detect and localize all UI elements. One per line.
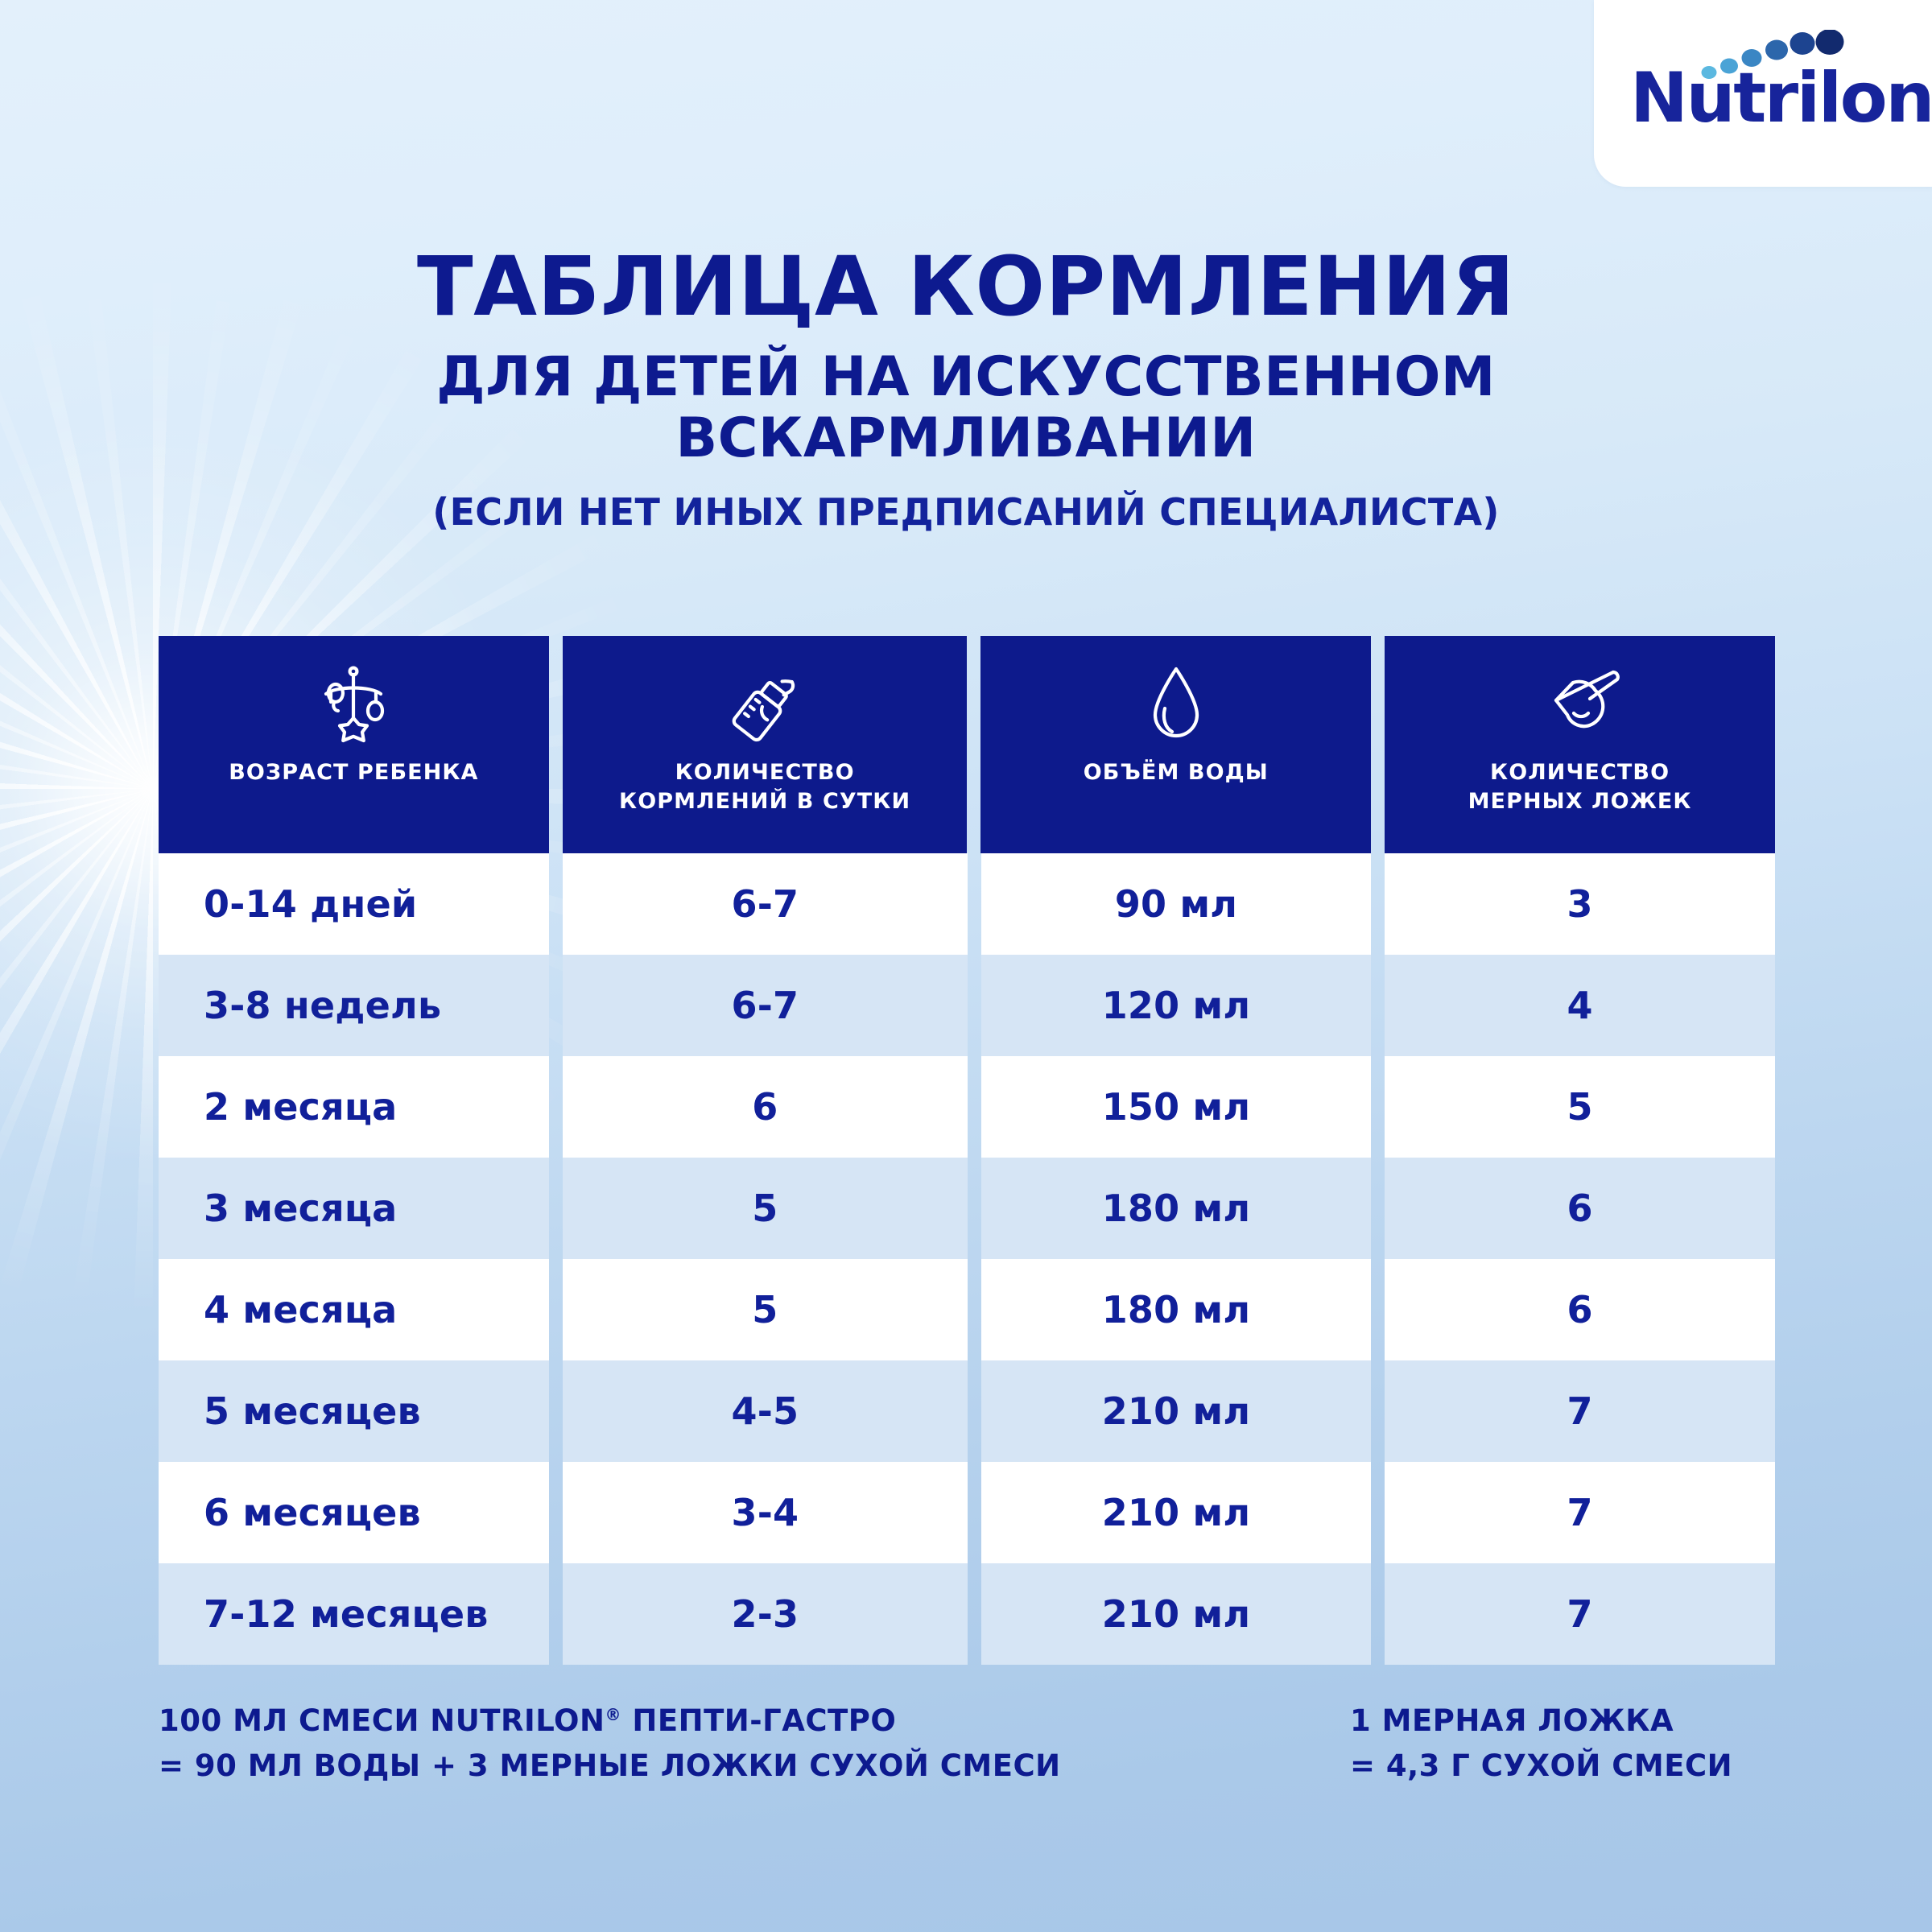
footer-left-line-1: 100 МЛ СМЕСИ NUTRILON® ПЕПТИ-ГАСТРО — [159, 1699, 1350, 1744]
cell-age: 6 месяцев — [159, 1462, 549, 1563]
table-header-label-scoops: КОЛИЧЕСТВО МЕРНЫХ ЛОЖЕК — [1468, 758, 1692, 815]
footer-right-line-2: = 4,3 Г СУХОЙ СМЕСИ — [1350, 1744, 1769, 1789]
table-row: 3 месяца 5 180 мл 6 — [159, 1158, 1775, 1259]
table-header-cell-scoops: КОЛИЧЕСТВО МЕРНЫХ ЛОЖЕК — [1385, 636, 1775, 853]
table-header-cell-water: ОБЪЁМ ВОДЫ — [980, 636, 1371, 853]
cell-age: 5 месяцев — [159, 1360, 549, 1462]
cell-water: 210 мл — [981, 1563, 1372, 1665]
footer-registered-mark: ® — [605, 1705, 621, 1724]
cell-age: 3-8 недель — [159, 955, 549, 1056]
table-row: 4 месяца 5 180 мл 6 — [159, 1259, 1775, 1360]
page-note: (ЕСЛИ НЕТ ИНЫХ ПРЕДПИСАНИЙ СПЕЦИАЛИСТА) — [0, 492, 1932, 533]
baby-bottle-icon — [723, 660, 807, 747]
table-header-row: ВОЗРАСТ РЕБЕНКА КОЛИЧЕСТВ — [159, 636, 1775, 853]
table-header-label-water: ОБЪЁМ ВОДЫ — [1084, 758, 1269, 787]
footer-left-line-1-prefix: 100 МЛ СМЕСИ NUTRILON — [159, 1703, 605, 1738]
footer-right-line-1: 1 МЕРНАЯ ЛОЖКА — [1350, 1699, 1769, 1744]
cell-water: 180 мл — [981, 1259, 1372, 1360]
cell-age: 3 месяца — [159, 1158, 549, 1259]
cell-water: 210 мл — [981, 1462, 1372, 1563]
cell-feedings: 6-7 — [563, 853, 968, 955]
cell-age: 4 месяца — [159, 1259, 549, 1360]
cell-scoops: 4 — [1385, 955, 1775, 1056]
footer-left-line-2: = 90 МЛ ВОДЫ + 3 МЕРНЫЕ ЛОЖКИ СУХОЙ СМЕС… — [159, 1744, 1350, 1789]
cell-feedings: 6 — [563, 1056, 968, 1158]
table-row: 7-12 месяцев 2-3 210 мл 7 — [159, 1563, 1775, 1665]
table-header-label-feedings: КОЛИЧЕСТВО КОРМЛЕНИЙ В СУТКИ — [619, 758, 910, 815]
cell-scoops: 6 — [1385, 1158, 1775, 1259]
nutrilon-wordmark: Nutrilon® — [1630, 64, 1896, 133]
table-row: 6 месяцев 3-4 210 мл 7 — [159, 1462, 1775, 1563]
subtitle-line-2: ВСКАРМЛИВАНИИ — [675, 407, 1256, 470]
cell-water: 90 мл — [981, 853, 1372, 955]
table-row: 3-8 недель 6-7 120 мл 4 — [159, 955, 1775, 1056]
water-drop-icon — [1134, 660, 1218, 747]
footer-note-left: 100 МЛ СМЕСИ NUTRILON® ПЕПТИ-ГАСТРО = 90… — [159, 1699, 1350, 1789]
cell-feedings: 5 — [563, 1158, 968, 1259]
cell-scoops: 3 — [1385, 853, 1775, 955]
cell-feedings: 3-4 — [563, 1462, 968, 1563]
table-row: 0-14 дней 6-7 90 мл 3 — [159, 853, 1775, 955]
table-header-label-age: ВОЗРАСТ РЕБЕНКА — [229, 758, 478, 787]
cell-scoops: 7 — [1385, 1563, 1775, 1665]
cell-scoops: 5 — [1385, 1056, 1775, 1158]
cell-water: 210 мл — [981, 1360, 1372, 1462]
cell-age: 0-14 дней — [159, 853, 549, 955]
page-subtitle: ДЛЯ ДЕТЕЙ НА ИСКУССТВЕННОМВСКАРМЛИВАНИИ — [0, 347, 1932, 469]
footer-notes: 100 МЛ СМЕСИ NUTRILON® ПЕПТИ-ГАСТРО = 90… — [159, 1699, 1777, 1789]
baby-mobile-icon — [312, 660, 395, 747]
footer-left-line-1-suffix: ПЕПТИ-ГАСТРО — [621, 1703, 896, 1738]
cell-age: 7-12 месяцев — [159, 1563, 549, 1665]
cell-feedings: 2-3 — [563, 1563, 968, 1665]
cell-feedings: 6-7 — [563, 955, 968, 1056]
cell-age: 2 месяца — [159, 1056, 549, 1158]
cell-water: 150 мл — [981, 1056, 1372, 1158]
logo-text: Nutrilon — [1630, 58, 1932, 138]
cell-scoops: 6 — [1385, 1259, 1775, 1360]
table-row: 5 месяцев 4-5 210 мл 7 — [159, 1360, 1775, 1462]
footer-note-right: 1 МЕРНАЯ ЛОЖКА = 4,3 Г СУХОЙ СМЕСИ — [1350, 1699, 1769, 1789]
table-header-cell-feedings: КОЛИЧЕСТВО КОРМЛЕНИЙ В СУТКИ — [563, 636, 968, 853]
table-header-cell-age: ВОЗРАСТ РЕБЕНКА — [159, 636, 549, 853]
feeding-table: ВОЗРАСТ РЕБЕНКА КОЛИЧЕСТВ — [159, 636, 1775, 1665]
title-block: ТАБЛИЦА КОРМЛЕНИЯ ДЛЯ ДЕТЕЙ НА ИСКУССТВЕ… — [0, 246, 1932, 533]
cell-water: 180 мл — [981, 1158, 1372, 1259]
table-row: 2 месяца 6 150 мл 5 — [159, 1056, 1775, 1158]
page-title: ТАБЛИЦА КОРМЛЕНИЯ — [0, 246, 1932, 329]
cell-scoops: 7 — [1385, 1360, 1775, 1462]
subtitle-line-1: ДЛЯ ДЕТЕЙ НА ИСКУССТВЕННОМ — [436, 345, 1496, 409]
cell-scoops: 7 — [1385, 1462, 1775, 1563]
measuring-scoop-icon — [1538, 660, 1622, 747]
cell-feedings: 4-5 — [563, 1360, 968, 1462]
cell-water: 120 мл — [981, 955, 1372, 1056]
brand-logo-card: Nutrilon® — [1594, 0, 1932, 187]
cell-feedings: 5 — [563, 1259, 968, 1360]
